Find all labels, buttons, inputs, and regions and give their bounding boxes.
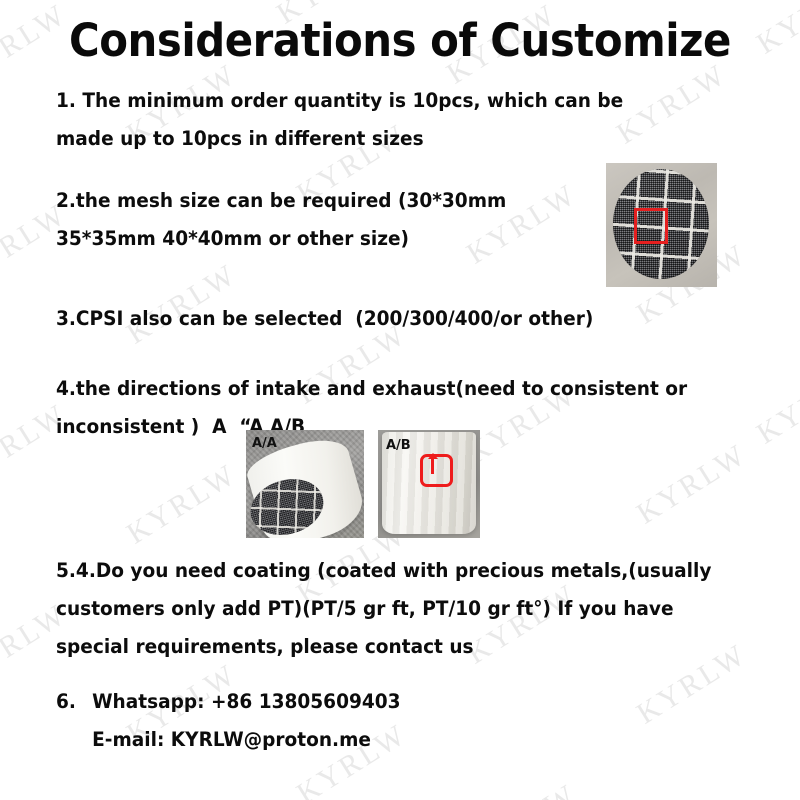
page-title: Considerations of Customize — [28, 14, 772, 68]
consideration-item-1: 1. The minimum order quantity is 10pcs, … — [56, 82, 683, 158]
contact-item-number: 6. — [56, 683, 92, 721]
direction-aa-photo: A/A — [246, 430, 364, 538]
photo-label-aa: A/A — [252, 436, 277, 451]
mesh-disc-photo — [606, 163, 717, 287]
contact-list-spacer — [56, 721, 92, 759]
document-page: Considerations of Customize 1. The minim… — [0, 0, 800, 800]
arrow-up-icon — [431, 458, 434, 474]
contact-block: 6. Whatsapp: +86 13805609403 E-mail: KYR… — [56, 683, 401, 759]
red-highlight-square — [634, 208, 668, 244]
direction-ab-photo: A/B — [378, 430, 480, 538]
consideration-item-2: 2.the mesh size can be required (30*30mm… — [56, 182, 588, 258]
email-value: E-mail: KYRLW@proton.me — [92, 721, 371, 759]
email-row: E-mail: KYRLW@proton.me — [56, 721, 401, 759]
consideration-item-3: 3.CPSI also can be selected (200/300/400… — [56, 300, 683, 338]
whatsapp-row: 6. Whatsapp: +86 13805609403 — [56, 683, 401, 721]
photo-label-ab: A/B — [386, 438, 411, 453]
whatsapp-value: Whatsapp: +86 13805609403 — [92, 683, 400, 721]
consideration-item-5: 5.4.Do you need coating (coated with pre… — [56, 552, 750, 666]
